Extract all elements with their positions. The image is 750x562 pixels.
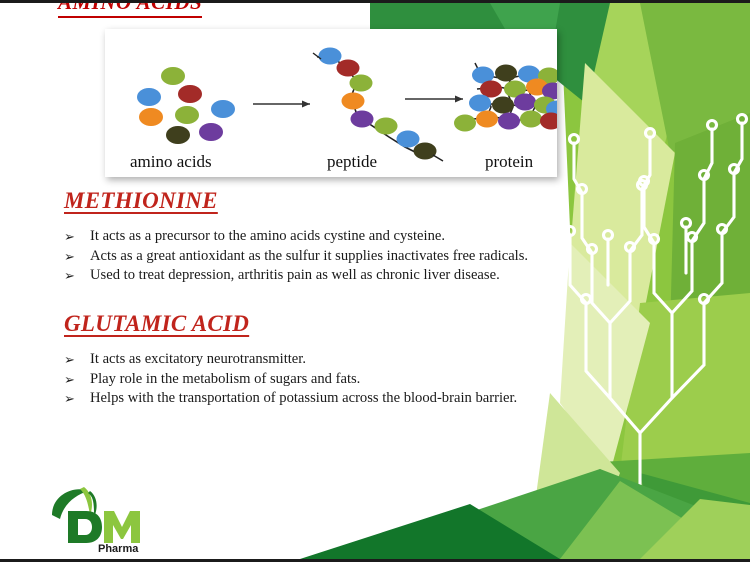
dm-pharma-logo: Pharma xyxy=(38,481,158,553)
list-item: ➢ Acts as a great antioxidant as the sul… xyxy=(64,247,528,267)
list-item-text: It acts as excitatory neurotransmitter. xyxy=(90,350,306,370)
list-item: ➢ It acts as excitatory neurotransmitter… xyxy=(64,350,517,370)
list-item-text: It acts as a precursor to the amino acid… xyxy=(90,227,445,247)
slide-canvas: AMINO ACIDS xyxy=(0,0,750,562)
list-item: ➢ Play role in the metabolism of sugars … xyxy=(64,370,517,390)
diagram-label-peptide: peptide xyxy=(327,152,377,171)
list-item-text: Play role in the metabolism of sugars an… xyxy=(90,370,360,390)
amino-acid-diagram: amino acids peptide protein xyxy=(105,29,557,177)
bullet-list-glutamic-acid: ➢ It acts as excitatory neurotransmitter… xyxy=(64,350,517,409)
list-item: ➢ It acts as a precursor to the amino ac… xyxy=(64,227,528,247)
section-title-methionine: METHIONINE xyxy=(64,188,218,214)
arrow-bullet-icon: ➢ xyxy=(64,227,90,247)
list-item-text: Helps with the transportation of potassi… xyxy=(90,389,517,409)
arrow-bullet-icon: ➢ xyxy=(64,350,90,370)
list-item: ➢ Helps with the transportation of potas… xyxy=(64,389,517,409)
diagram-label-protein: protein xyxy=(485,152,534,171)
logo-tagline: Pharma xyxy=(98,543,139,553)
page-title: AMINO ACIDS xyxy=(58,0,202,18)
arrow-bullet-icon: ➢ xyxy=(64,389,90,409)
section-title-glutamic-acid: GLUTAMIC ACID xyxy=(64,311,249,337)
list-item: ➢ Used to treat depression, arthritis pa… xyxy=(64,266,528,286)
arrow-bullet-icon: ➢ xyxy=(64,247,90,267)
list-item-text: Used to treat depression, arthritis pain… xyxy=(90,266,500,286)
diagram-label-amino-acids: amino acids xyxy=(130,152,212,171)
arrow-bullet-icon: ➢ xyxy=(64,266,90,286)
bullet-list-methionine: ➢ It acts as a precursor to the amino ac… xyxy=(64,227,528,286)
arrow-bullet-icon: ➢ xyxy=(64,370,90,390)
list-item-text: Acts as a great antioxidant as the sulfu… xyxy=(90,247,528,267)
